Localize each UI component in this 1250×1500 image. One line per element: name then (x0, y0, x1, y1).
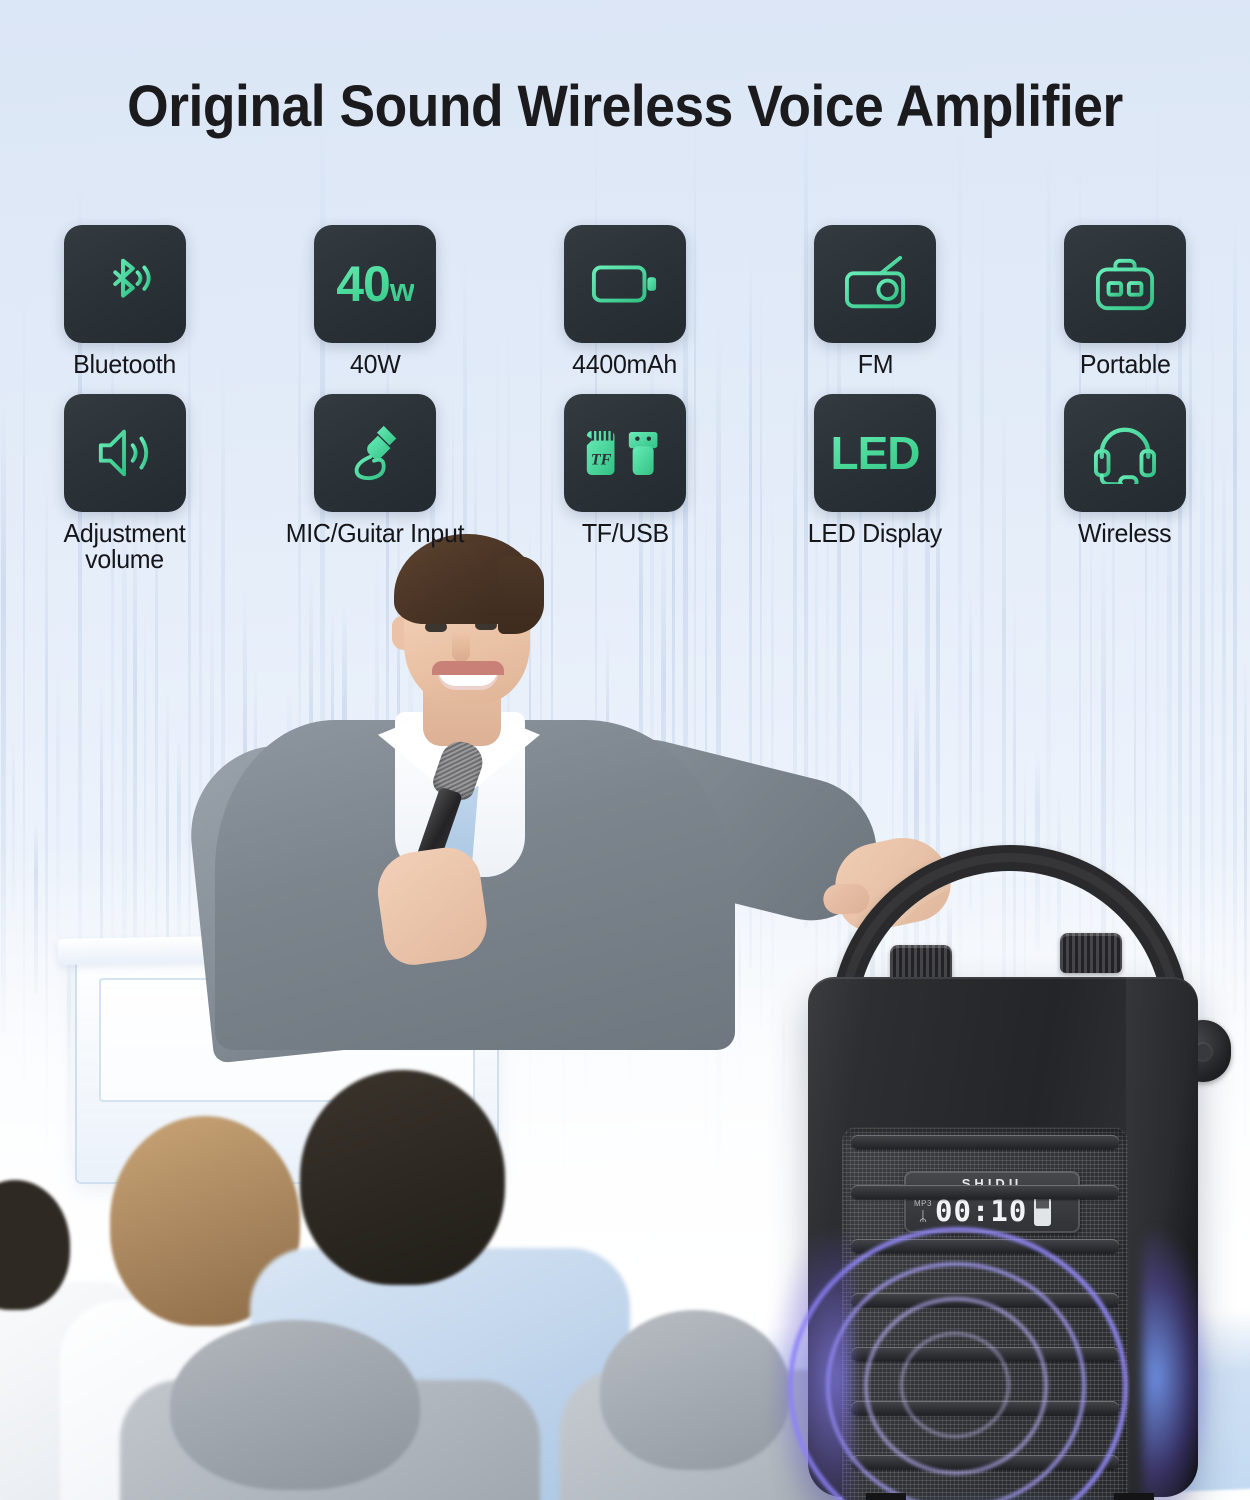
feature-grid: Bluetooth 40w 40W (0, 225, 1250, 573)
rgb-glow-left (772, 1232, 852, 1500)
track-time: 00:10 (935, 1197, 1027, 1226)
presenter-smile (438, 668, 498, 690)
feature-tf-usb[interactable]: TF TF/USB (500, 394, 750, 547)
mp3-indicator: MP3 (914, 1200, 932, 1208)
svg-text:TF: TF (591, 450, 612, 468)
presenter-hand-holding-mic (373, 843, 492, 968)
portable-voice-amplifier: SHIDU MP3 ᛦ 00:10 (790, 845, 1230, 1500)
feature-mic-guitar-input[interactable]: MIC/Guitar Input (250, 394, 500, 547)
grille-slat (851, 1401, 1119, 1415)
feature-wireless[interactable]: Wireless (1000, 394, 1250, 547)
feature-volume[interactable]: Adjustment volume (0, 394, 250, 573)
feature-fm[interactable]: FM (750, 225, 1000, 378)
feature-label: Adjustment volume (64, 520, 186, 573)
feature-40w[interactable]: 40w 40W (250, 225, 500, 378)
led-text-icon: LED (814, 394, 936, 512)
bluetooth-indicator-icon: ᛦ (919, 1209, 927, 1223)
headset-icon (1064, 394, 1186, 512)
grille-slat (851, 1293, 1119, 1307)
watt-number: 40 (336, 256, 390, 312)
feature-label: TF/USB (581, 520, 668, 547)
radio-icon (814, 225, 936, 343)
battery-full-icon (1034, 1196, 1051, 1226)
briefcase-icon (1064, 225, 1186, 343)
audience-member-gray-suit-head (170, 1320, 420, 1490)
rgb-glow-right (1142, 1227, 1212, 1500)
feature-label: Portable (1080, 351, 1171, 378)
feature-bluetooth[interactable]: Bluetooth (0, 225, 250, 378)
feature-label: Wireless (1078, 520, 1171, 547)
feature-label: 40W (350, 351, 400, 378)
feature-label: Bluetooth (74, 351, 177, 378)
feature-led-display[interactable]: LED LED Display (750, 394, 1000, 547)
grille-slat (851, 1239, 1119, 1253)
bluetooth-icon (64, 225, 186, 343)
speaker-volume-icon (64, 394, 186, 512)
grille-slat (851, 1455, 1119, 1469)
speaker-grille: SHIDU MP3 ᛦ 00:10 (842, 1127, 1128, 1500)
watt-unit: w (390, 272, 414, 308)
grille-slat (851, 1135, 1119, 1149)
product-infographic: SHIDU MP3 ᛦ 00:10 (0, 0, 1250, 1500)
feature-row-1: Bluetooth 40w 40W (0, 225, 1250, 378)
feature-battery[interactable]: 4400mAh (500, 225, 750, 378)
foot-right (1114, 1493, 1154, 1500)
product-feet (860, 1493, 1160, 1500)
echo-knob[interactable] (1060, 933, 1122, 973)
grille-slat (851, 1347, 1119, 1361)
led-display: SHIDU MP3 ᛦ 00:10 (904, 1171, 1080, 1233)
foot-left (866, 1493, 906, 1500)
presenter (180, 520, 800, 1080)
led-glyph: LED (831, 426, 920, 480)
audience-member-blue-shirt-head (300, 1070, 505, 1285)
speaker-cabinet: SHIDU MP3 ᛦ 00:10 (808, 977, 1198, 1497)
grille-slat (851, 1185, 1119, 1199)
audience-member-right-head (600, 1310, 790, 1470)
audio-plug-cable-icon (314, 394, 436, 512)
page-title: Original Sound Wireless Voice Amplifier (50, 78, 1200, 136)
feature-label: MIC/Guitar Input (286, 520, 465, 547)
presenter-nose (452, 632, 470, 662)
watt-40-icon: 40w (314, 225, 436, 343)
tf-card-usb-icon: TF (564, 394, 686, 512)
feature-portable[interactable]: Portable (1000, 225, 1250, 378)
battery-icon (564, 225, 686, 343)
feature-row-2: Adjustment volume MIC/Guitar Input (0, 394, 1250, 573)
feature-label: FM (857, 351, 892, 378)
feature-label: LED Display (808, 520, 942, 547)
feature-label: 4400mAh (573, 351, 678, 378)
